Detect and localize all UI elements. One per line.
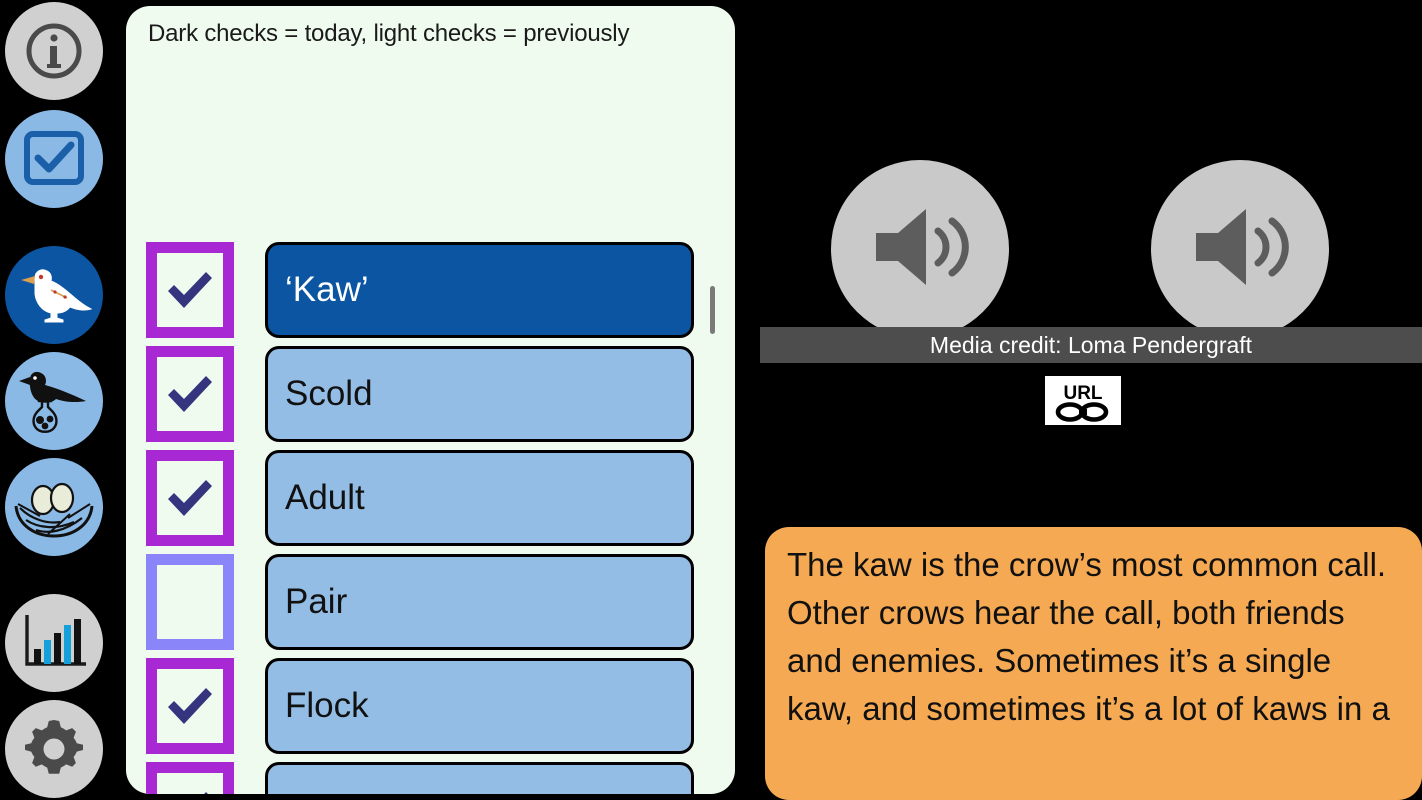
gear-icon (23, 718, 85, 780)
info-panel-text: The kaw is the crow’s most common call. … (787, 541, 1399, 733)
sidebar (0, 0, 110, 800)
row-checkbox[interactable] (146, 346, 234, 442)
sidebar-item-crow-bottle[interactable] (5, 352, 103, 450)
row-checkbox[interactable] (146, 554, 234, 650)
speaker-icon (1188, 201, 1292, 298)
row-label[interactable]: Flock (265, 658, 694, 754)
row-checkbox[interactable] (146, 658, 234, 754)
check-mark-icon (164, 371, 216, 417)
info-icon (23, 20, 85, 82)
checklist-icon (21, 126, 87, 192)
svg-text:URL: URL (1063, 383, 1102, 404)
list-item[interactable] (126, 758, 735, 794)
media-credit-bar: Media credit: Loma Pendergraft (760, 327, 1422, 363)
sidebar-item-checklist[interactable] (5, 110, 103, 208)
list-item[interactable]: Adult (126, 446, 735, 550)
list-item[interactable]: Flock (126, 654, 735, 758)
row-label[interactable]: Adult (265, 450, 694, 546)
row-label[interactable]: Pair (265, 554, 694, 650)
row-label[interactable]: ‘Kaw’ (265, 242, 694, 338)
play-audio-button-2[interactable] (1151, 160, 1329, 338)
check-mark-icon (164, 683, 216, 729)
check-mark-icon (164, 787, 216, 794)
checklist-rows: ‘Kaw’ Scold Adult (126, 238, 735, 794)
row-checkbox[interactable] (146, 242, 234, 338)
url-link-icon[interactable]: URL (1045, 376, 1121, 425)
list-item[interactable]: Pair (126, 550, 735, 654)
list-item[interactable]: Scold (126, 342, 735, 446)
sidebar-item-settings[interactable] (5, 700, 103, 798)
nest-icon (12, 474, 96, 540)
row-checkbox[interactable] (146, 762, 234, 794)
check-mark-icon (164, 475, 216, 521)
row-label[interactable] (265, 762, 694, 794)
crow-bottle-icon (14, 365, 94, 437)
check-mark-icon (164, 267, 216, 313)
speaker-icon (868, 201, 972, 298)
info-panel: The kaw is the crow’s most common call. … (765, 527, 1422, 800)
bar-chart-icon (18, 612, 90, 674)
sidebar-item-bird[interactable] (5, 246, 103, 344)
media-credit-text: Media credit: Loma Pendergraft (930, 332, 1252, 359)
row-checkbox[interactable] (146, 450, 234, 546)
sidebar-item-stats[interactable] (5, 594, 103, 692)
checklist-panel: Dark checks = today, light checks = prev… (126, 6, 735, 794)
app-root: Dark checks = today, light checks = prev… (0, 0, 1422, 800)
sidebar-item-info[interactable] (5, 2, 103, 100)
list-item[interactable]: ‘Kaw’ (126, 238, 735, 342)
bird-icon (15, 264, 93, 326)
row-label[interactable]: Scold (265, 346, 694, 442)
list-scrollbar[interactable] (710, 286, 715, 334)
checklist-header-text: Dark checks = today, light checks = prev… (148, 20, 718, 48)
sidebar-item-nest[interactable] (5, 458, 103, 556)
play-audio-button-1[interactable] (831, 160, 1009, 338)
